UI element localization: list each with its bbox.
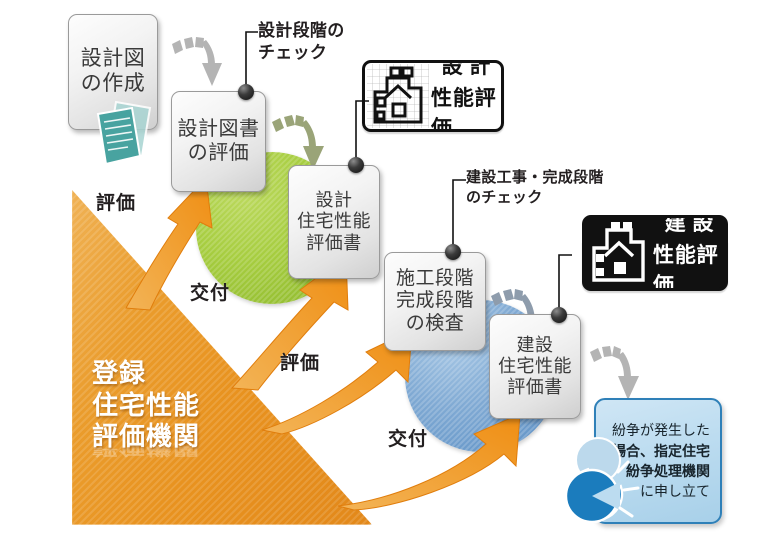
connector-dot-construction-check: [445, 244, 461, 260]
issuance-arrow-1-label: 交付: [190, 278, 230, 305]
callout1-line-2: チェック: [258, 42, 345, 64]
organization-label: 登録 住宅性能 評価機関: [92, 358, 200, 453]
construction-badge-bottom-label: 性能評価: [653, 239, 725, 291]
design-performance-badge[interactable]: 設計 性能評価: [362, 60, 504, 132]
organization-label-line-3: 評価機関: [92, 421, 200, 453]
process-box-construction-stage-inspection[interactable]: 施工段階 完成段階 の検査: [384, 252, 486, 351]
house-blueprint-grid-icon: [365, 63, 431, 129]
callout2-line-1: 建設工事・完成段階: [466, 168, 604, 188]
construction-badge-text: 建設 性能評価: [653, 218, 725, 288]
box5-line-2: 住宅性能: [498, 356, 572, 377]
dispute-line-4: に申し立て: [640, 481, 710, 501]
callout1-line-1: 設計段階の: [258, 20, 345, 42]
organization-label-line-2: 住宅性能: [92, 390, 200, 422]
box3-line-2: 住宅性能: [297, 211, 371, 232]
box1-line-1: 設計図: [81, 47, 146, 72]
process-box-construction-housing-performance-report[interactable]: 建設 住宅性能 評価書: [489, 314, 581, 419]
box4-line-1: 施工段階: [396, 268, 474, 290]
connector-design-badge: [345, 98, 371, 166]
connector-dot-construction-badge: [551, 307, 567, 323]
issuance-arrow-2: [334, 412, 534, 512]
organization-label-line-1: 登録: [92, 358, 200, 390]
design-badge-top-label: 設計: [435, 60, 497, 80]
dispute-claim-shout-icon: [558, 434, 650, 526]
evaluation-arrow-1-label: 評価: [96, 188, 136, 215]
connector-dot-design-stage-check: [238, 84, 254, 100]
house-building-icon: [585, 218, 653, 288]
box5-line-3: 評価書: [498, 377, 572, 398]
box5-line-1: 建設: [498, 335, 572, 356]
box2-line-1: 設計図書: [178, 118, 260, 142]
box2-line-2: の評価: [178, 142, 260, 166]
process-box-design-document-evaluation[interactable]: 設計図書 の評価: [171, 91, 266, 192]
callout-design-stage-check: 設計段階の チェック: [258, 20, 345, 64]
callout2-line-2: のチェック: [466, 188, 604, 208]
construction-badge-top-label: 建設: [658, 215, 720, 237]
design-badge-bottom-label: 性能評価: [431, 82, 501, 132]
box4-line-3: の検査: [396, 313, 474, 335]
box3-line-3: 評価書: [297, 233, 371, 254]
diagram-canvas: 登録 住宅性能 評価機関 評価機関 評価 交付 評価: [0, 0, 770, 538]
gray-arrow-design-creation-to-evaluation: [166, 28, 228, 100]
design-drawings-document-icon: [76, 94, 160, 180]
connector-dot-design-badge: [348, 157, 364, 173]
callout-construction-completion-check: 建設工事・完成段階 のチェック: [466, 168, 604, 207]
process-box-design-housing-performance-report[interactable]: 設計 住宅性能 評価書: [288, 165, 380, 279]
construction-performance-badge[interactable]: 建設 性能評価: [582, 215, 728, 291]
evaluation-arrow-2-label: 評価: [280, 348, 320, 375]
design-badge-text: 設計 性能評価: [431, 63, 501, 129]
box4-line-2: 完成段階: [396, 290, 474, 312]
box3-line-1: 設計: [297, 190, 371, 211]
issuance-arrow-2-label: 交付: [388, 424, 428, 451]
